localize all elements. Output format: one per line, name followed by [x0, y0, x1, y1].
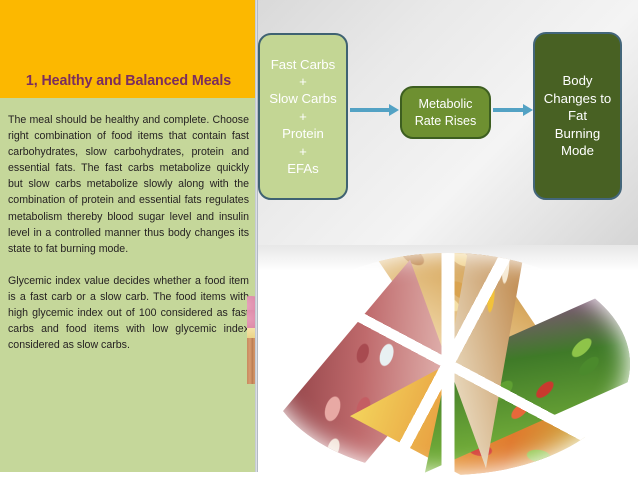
food-platter — [266, 253, 630, 475]
flow-box-fast-carbs[interactable]: Fast Carbs+Slow Carbs+Protein+EFAs — [258, 33, 348, 200]
flow-box-metabolic-rate-rises-label: MetabolicRate Rises — [415, 96, 477, 129]
bottom-white-strip — [0, 472, 258, 479]
flow-box-body-changes-to-fat-burning-mode[interactable]: BodyChanges toFatBurningMode — [533, 32, 622, 200]
flow-box-fast-carbs-label: Fast Carbs+Slow Carbs+Protein+EFAs — [269, 56, 336, 178]
arrow-fast-carbs-to-metabolic-icon — [350, 108, 390, 112]
flow-box-metabolic-rate-rises[interactable]: MetabolicRate Rises — [400, 86, 491, 139]
page-title: 1, Healthy and Balanced Meals — [0, 73, 257, 89]
paragraph-2: Glycemic index value decides whether a f… — [8, 273, 249, 353]
body-text-block: The meal should be healthy and complete.… — [8, 112, 249, 353]
arrow-metabolic-to-fat-burning-icon — [493, 108, 524, 112]
flow-box-body-changes-label: BodyChanges toFatBurningMode — [544, 72, 611, 159]
left-content-panel: 1, Healthy and Balanced Meals The meal s… — [0, 0, 257, 472]
slide-canvas: 1, Healthy and Balanced Meals The meal s… — [0, 0, 638, 479]
title-band: 1, Healthy and Balanced Meals — [0, 0, 257, 98]
paragraph-1: The meal should be healthy and complete.… — [8, 112, 249, 257]
balanced-food-platter-photo — [258, 245, 638, 479]
